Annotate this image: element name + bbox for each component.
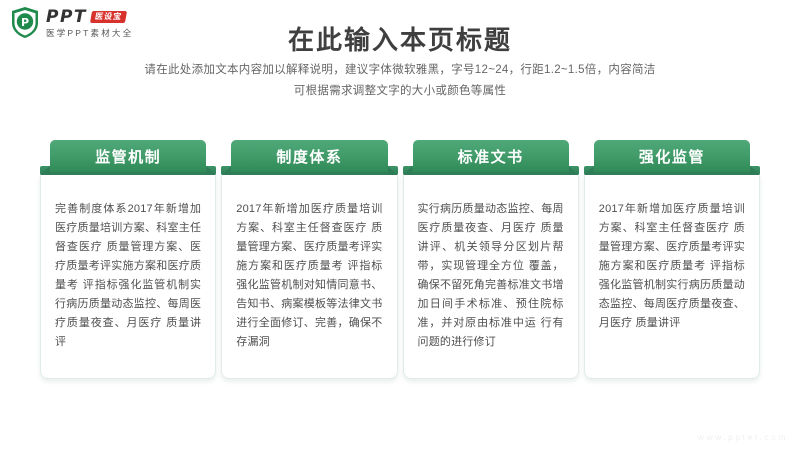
page-title: 在此输入本页标题 [0, 20, 800, 57]
card-header: 标准文书 [403, 140, 579, 176]
card-header: 强化监管 [584, 140, 760, 176]
card-title: 监管机制 [95, 146, 161, 167]
card-item[interactable]: 标准文书 实行病历质量动态监控、每周医疗质量夜查、月医疗 质量讲评、机关领导分区… [403, 140, 579, 379]
subtitle-line-1: 请在此处添加文本内容加以解释说明，建议字体微软雅黑，字号12~24，行距1.2~… [0, 60, 800, 81]
card-header: 监管机制 [40, 140, 216, 176]
card-text: 2017年新增加医疗质量培训方案、科室主任督查医疗 质量管理方案、医疗质量考评实… [599, 200, 745, 333]
card-banner: 标准文书 [413, 140, 569, 172]
card-title: 标准文书 [458, 146, 524, 167]
card-banner: 监管机制 [50, 140, 206, 172]
card-body: 实行病历质量动态监控、每周医疗质量夜查、月医疗 质量讲评、机关领导分区划片帮带，… [403, 174, 579, 379]
card-item[interactable]: 强化监管 2017年新增加医疗质量培训方案、科室主任督查医疗 质量管理方案、医疗… [584, 140, 760, 379]
card-item[interactable]: 制度体系 2017年新增加医疗质量培训方案、科室主任督查医疗 质量管理方案、医疗… [221, 140, 397, 379]
card-body: 2017年新增加医疗质量培训方案、科室主任督查医疗 质量管理方案、医疗质量考评实… [584, 174, 760, 379]
card-list: 监管机制 完善制度体系2017年新增加医疗质量培训方案、科室主任督查医疗 质量管… [40, 140, 760, 379]
site-watermark: www.ppter.com [698, 432, 788, 442]
card-text: 完善制度体系2017年新增加医疗质量培训方案、科室主任督查医疗 质量管理方案、医… [55, 200, 201, 352]
subtitle-line-2: 可根据需求调整文字的大小或颜色等属性 [0, 81, 800, 102]
card-body: 完善制度体系2017年新增加医疗质量培训方案、科室主任督查医疗 质量管理方案、医… [40, 174, 216, 379]
card-title: 制度体系 [276, 146, 342, 167]
card-banner: 制度体系 [231, 140, 387, 172]
card-body: 2017年新增加医疗质量培训方案、科室主任督查医疗 质量管理方案、医疗质量考评实… [221, 174, 397, 379]
page-subtitle: 请在此处添加文本内容加以解释说明，建议字体微软雅黑，字号12~24，行距1.2~… [0, 60, 800, 102]
card-banner: 强化监管 [594, 140, 750, 172]
card-item[interactable]: 监管机制 完善制度体系2017年新增加医疗质量培训方案、科室主任督查医疗 质量管… [40, 140, 216, 379]
card-title: 强化监管 [639, 146, 705, 167]
card-text: 2017年新增加医疗质量培训方案、科室主任督查医疗 质量管理方案、医疗质量考评实… [236, 200, 382, 352]
card-header: 制度体系 [221, 140, 397, 176]
card-text: 实行病历质量动态监控、每周医疗质量夜查、月医疗 质量讲评、机关领导分区划片帮带，… [418, 200, 564, 352]
